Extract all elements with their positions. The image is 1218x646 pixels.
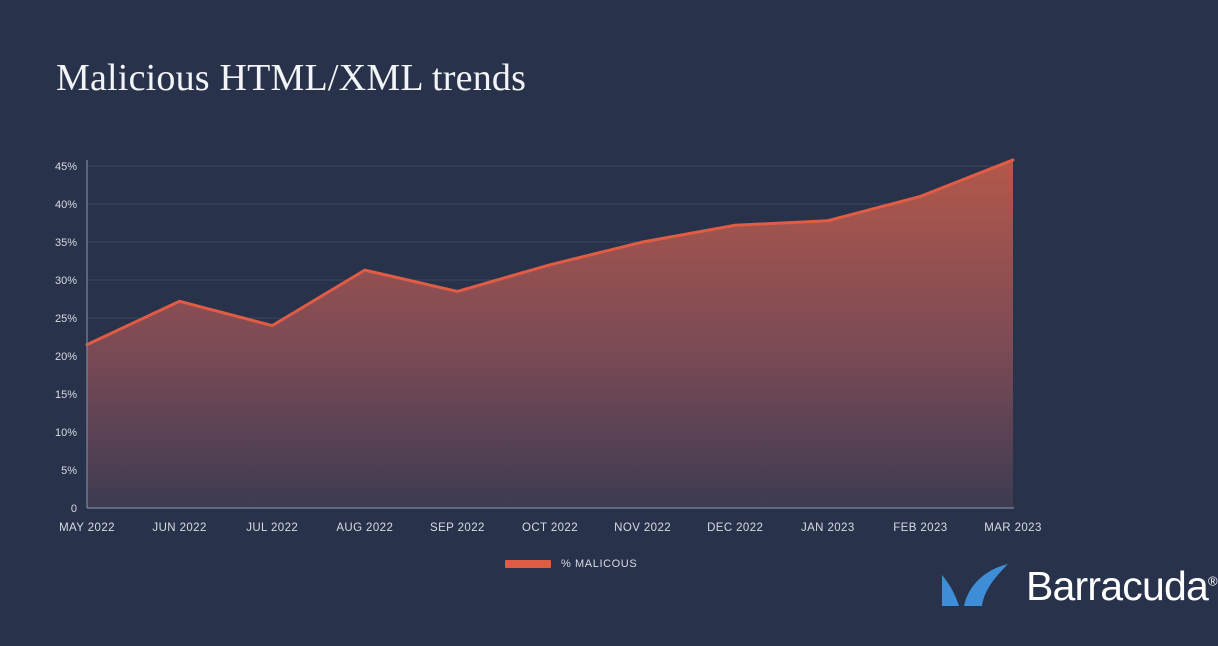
x-axis-tick-label: JUL 2022	[246, 522, 298, 534]
y-axis-tick-label: 0	[71, 503, 77, 515]
y-axis-tick-label: 45%	[55, 161, 77, 173]
logo-text: Barracuda	[1026, 563, 1208, 609]
barracuda-wordmark: Barracuda®	[1026, 566, 1218, 607]
x-axis-tick-label: SEP 2022	[430, 522, 485, 534]
chart-page: Malicious HTML/XML trends 05%10%15%20%25…	[0, 0, 1218, 646]
x-axis-tick-label: AUG 2022	[336, 522, 393, 534]
series-area	[87, 160, 1013, 508]
x-axis-tick-label: FEB 2023	[893, 522, 947, 534]
registered-trademark-icon: ®	[1208, 573, 1218, 588]
x-axis-tick-label: OCT 2022	[522, 522, 578, 534]
legend-series-label: % MALICOUS	[561, 558, 637, 570]
legend-color-swatch	[505, 560, 551, 568]
x-axis-tick-label: MAR 2023	[984, 522, 1042, 534]
y-axis-tick-label: 20%	[55, 351, 77, 363]
x-axis-tick-label: JAN 2023	[801, 522, 855, 534]
x-axis-tick-label: MAY 2022	[59, 522, 115, 534]
y-axis-tick-labels: 05%10%15%20%25%30%35%40%45%	[55, 161, 77, 515]
x-axis-tick-label: NOV 2022	[614, 522, 671, 534]
x-axis-tick-label: JUN 2022	[152, 522, 206, 534]
y-axis-tick-label: 5%	[61, 465, 77, 477]
barracuda-logo: Barracuda®	[938, 562, 1218, 610]
y-axis-tick-label: 40%	[55, 199, 77, 211]
chart-legend: % MALICOUS	[505, 558, 637, 570]
barracuda-fin-icon	[938, 562, 1016, 610]
y-axis-tick-label: 25%	[55, 313, 77, 325]
y-axis-tick-label: 10%	[55, 427, 77, 439]
x-axis-tick-label: DEC 2022	[707, 522, 763, 534]
area-series-fill	[87, 160, 1013, 508]
y-axis-tick-label: 15%	[55, 389, 77, 401]
chart-plot-area: 05%10%15%20%25%30%35%40%45% MAY 2022JUN …	[0, 0, 1218, 646]
y-axis-tick-label: 35%	[55, 237, 77, 249]
area-chart-svg: 05%10%15%20%25%30%35%40%45% MAY 2022JUN …	[0, 0, 1218, 646]
x-axis-tick-labels: MAY 2022JUN 2022JUL 2022AUG 2022SEP 2022…	[59, 522, 1042, 534]
y-axis-tick-label: 30%	[55, 275, 77, 287]
